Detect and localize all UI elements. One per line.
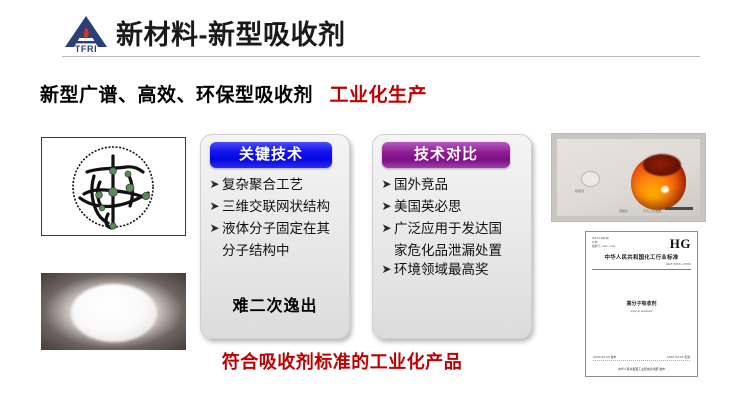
title-divider xyxy=(62,56,700,57)
subtitle-row: 新型广谱、高效、环保型吸收剂 工业化生产 xyxy=(40,80,427,107)
industry-standard-document-image: ICS 71.100.99 G 86 备案号：xxxx—xxxx HG 中华人民… xyxy=(585,231,698,377)
doc-dates: XXXX-XX-XX 发布 XXXX-XX-XX 实施 xyxy=(593,355,690,361)
panel-technology-comparison: 技术对比 ➤ 国外竞品 ➤ 美国英必思 ➤ 广泛应用于发达国 家危化品泄漏处置 … xyxy=(372,134,532,339)
subtitle-main-text: 新型广谱、高效、环保型吸收剂 xyxy=(40,85,313,106)
list-item-label: 三维交联网状结构 xyxy=(222,197,330,216)
doc-top-line: ICS 71.100.99 G 86 备案号：xxxx—xxxx HG xyxy=(592,237,691,250)
list-item-label: 美国英必思 xyxy=(394,197,462,216)
list-item: ➤ 液体分子固定在其 xyxy=(207,219,344,238)
list-item-continuation: 分子结构中 xyxy=(222,241,344,260)
arrow-bullet-icon: ➤ xyxy=(207,175,222,194)
powder-blob xyxy=(71,284,157,342)
doc-effective-date: XXXX-XX-XX 实施 xyxy=(667,355,690,359)
tfri-logo: TFRI xyxy=(62,14,110,54)
doc-subject-title-en: Polymer absorbent xyxy=(592,310,691,313)
list-item: ➤ 美国英必思 xyxy=(379,197,526,216)
gel-photo-inner: 吸收剂 凝胶化 不可二次泄漏 xyxy=(557,139,700,216)
page-title: 新材料-新型吸收剂 xyxy=(116,13,346,52)
gel-caption-1: 凝胶化 xyxy=(619,209,628,213)
gel-scale-bar xyxy=(665,207,693,210)
arrow-bullet-icon: ➤ xyxy=(379,219,394,238)
slide-header: TFRI 新材料-新型吸收剂 xyxy=(0,0,744,60)
arrow-bullet-icon: ➤ xyxy=(379,175,394,194)
doc-issuer: 中华人民共和国工业和信息化部 发布 xyxy=(586,367,697,371)
gel-sample-small xyxy=(581,171,600,187)
arrow-bullet-icon: ➤ xyxy=(379,197,394,216)
doc-national-title: 中华人民共和国化工行业标准 xyxy=(592,253,691,261)
list-item: ➤ 国外竞品 xyxy=(379,175,526,194)
molecule-diagram xyxy=(42,138,185,235)
doc-issue-date: XXXX-XX-XX 发布 xyxy=(593,355,616,359)
gel-experiment-image: 吸收剂 凝胶化 不可二次泄漏 xyxy=(551,133,706,222)
footer-banner-text: 符合吸收剂标准的工业化产品 xyxy=(196,348,488,374)
doc-subject-title: 高分子吸收剂 xyxy=(592,300,691,307)
list-item-continuation: 家危化品泄漏处置 xyxy=(394,241,526,260)
list-item: ➤ 三维交联网状结构 xyxy=(207,197,344,216)
panel-emphasis-text: 难二次逸出 xyxy=(201,292,349,316)
powder-sample-image xyxy=(41,273,186,350)
list-item-label: 环境领域最高奖 xyxy=(394,260,489,279)
arrow-bullet-icon: ➤ xyxy=(207,219,222,238)
list-item-label: 复杂聚合工艺 xyxy=(222,175,303,194)
list-item-label: 国外竞品 xyxy=(394,175,448,194)
tfri-logo-mark: TFRI xyxy=(62,14,110,54)
list-item-label: 液体分子固定在其 xyxy=(222,219,330,238)
doc-standard-number: HG/T XXXX—XXXX xyxy=(592,262,691,266)
list-item: ➤ 广泛应用于发达国 xyxy=(379,219,526,238)
subtitle-accent-text: 工业化生产 xyxy=(329,85,427,106)
doc-classification-codes: ICS 71.100.99 G 86 备案号：xxxx—xxxx xyxy=(592,237,615,249)
svg-text:TFRI: TFRI xyxy=(75,44,97,54)
gel-blob-dark-region xyxy=(643,154,681,176)
doc-hg-mark: HG xyxy=(670,237,691,250)
gel-highlight xyxy=(661,186,669,193)
panel-header-key-technology: 关键技术 xyxy=(210,142,332,168)
panel-key-technology: 关键技术 ➤ 复杂聚合工艺 ➤ 三维交联网状结构 ➤ 液体分子固定在其 分子结构… xyxy=(200,134,350,339)
arrow-bullet-icon: ➤ xyxy=(379,260,394,279)
gel-caption-2: 不可二次泄漏 xyxy=(643,209,661,213)
arrow-bullet-icon: ➤ xyxy=(207,197,222,216)
bullet-list-key-technology: ➤ 复杂聚合工艺 ➤ 三维交联网状结构 ➤ 液体分子固定在其 分子结构中 xyxy=(207,175,344,260)
list-item: ➤ 环境领域最高奖 xyxy=(379,260,526,279)
list-item: ➤ 复杂聚合工艺 xyxy=(207,175,344,194)
panel-header-technology-comparison: 技术对比 xyxy=(382,142,510,168)
doc-divider xyxy=(592,269,691,270)
gel-caption-0: 吸收剂 xyxy=(575,189,584,193)
bullet-list-technology-comparison: ➤ 国外竞品 ➤ 美国英必思 ➤ 广泛应用于发达国 家危化品泄漏处置 ➤ 环境领… xyxy=(379,175,526,282)
list-item-label: 广泛应用于发达国 xyxy=(394,219,502,238)
molecule-structure-image xyxy=(41,137,186,236)
